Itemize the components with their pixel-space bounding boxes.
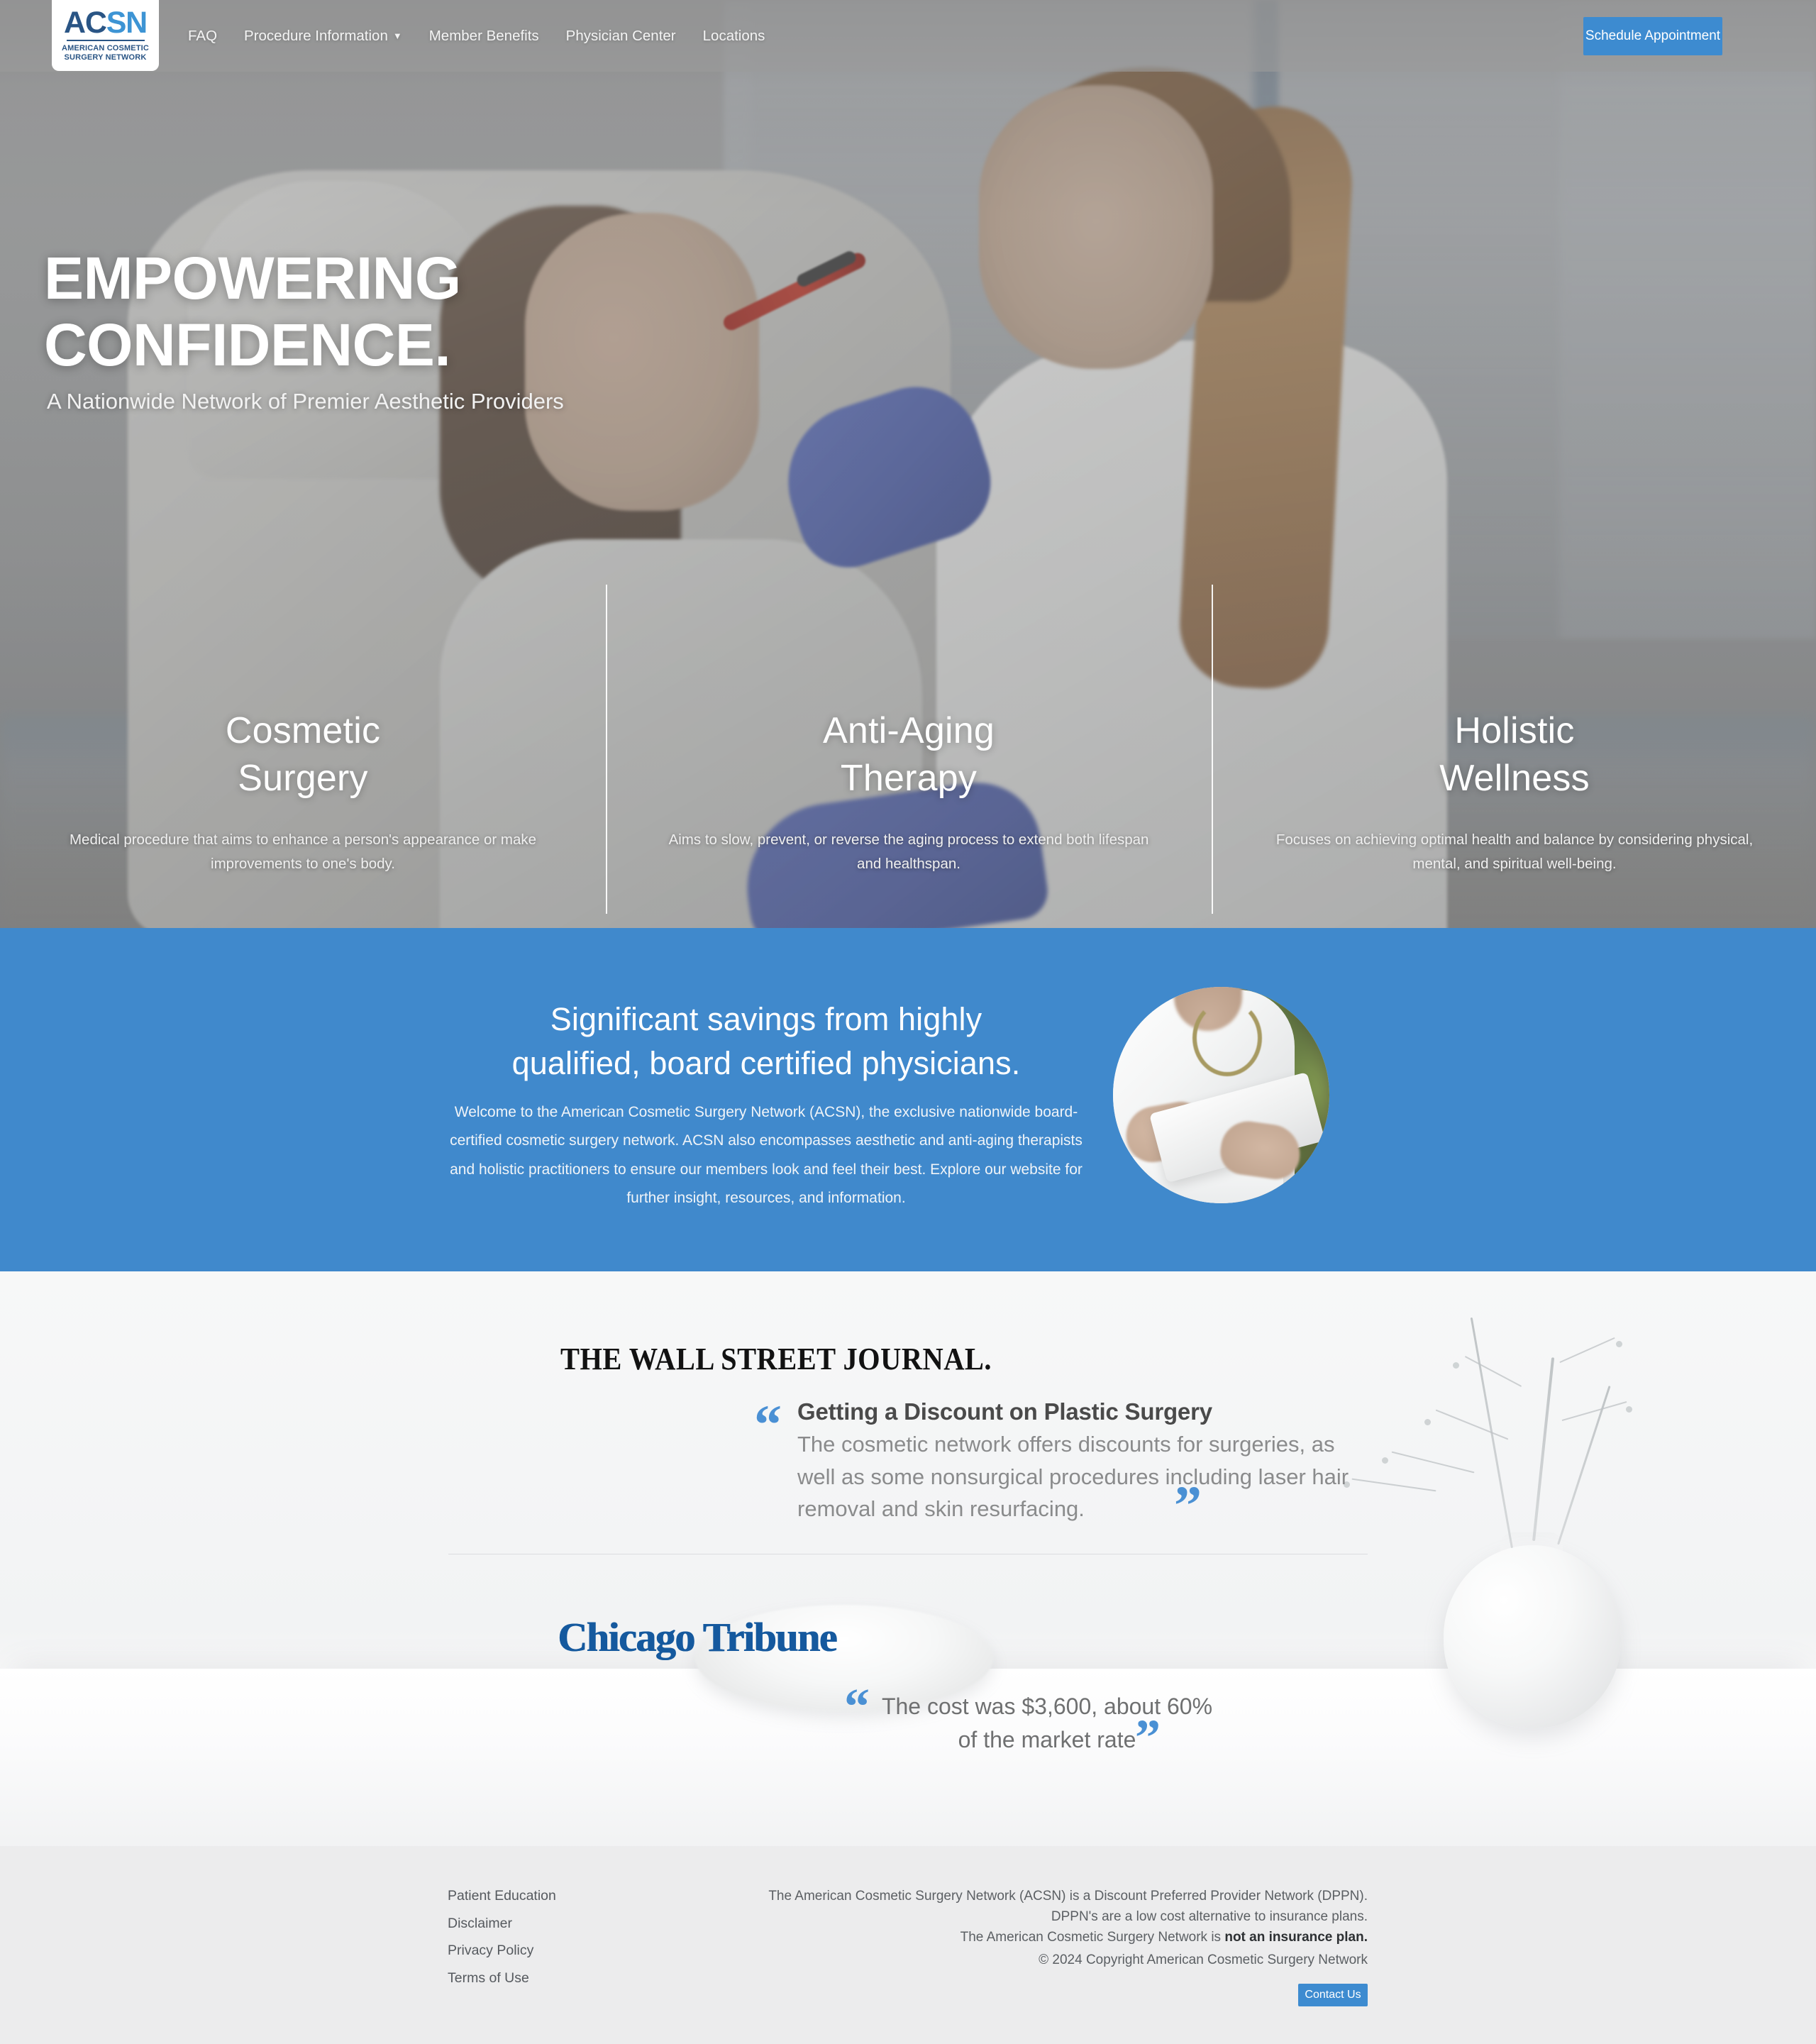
footer-link-terms-of-use[interactable]: Terms of Use [448,1970,556,1987]
footer-disclaimer-line-1: The American Cosmetic Surgery Network (A… [752,1886,1368,1907]
quote-open-icon: “ [754,1397,782,1452]
footer-disclaimer-line-3-prefix: The American Cosmetic Surgery Network is [960,1930,1225,1945]
nav-item-member-benefits[interactable]: Member Benefits [416,28,553,45]
schedule-appointment-button[interactable]: Schedule Appointment [1583,17,1722,55]
nav-item-label: Locations [703,28,765,44]
footer-disclaimer-line-2: DPPN's are a low cost alternative to ins… [752,1907,1368,1928]
nav-item-procedure-information[interactable]: Procedure Information▼ [231,28,416,45]
quote-close-icon: ” [1174,1478,1202,1533]
footer-copyright: © 2024 Copyright American Cosmetic Surge… [752,1952,1368,1968]
chicago-tribune-logo: Chicago Tribune [558,1613,836,1661]
footer-link-patient-education[interactable]: Patient Education [448,1888,556,1904]
logo-wordmark-light: SN [106,6,147,40]
wsj-quote-title: Getting a Discount on Plastic Surgery [797,1398,1336,1425]
top-navigation-bar: ACSN AMERICAN COSMETIC SURGERY NETWORK F… [0,0,1816,72]
wsj-logo: THE WALL STREET JOURNAL. [560,1341,992,1377]
wsj-quote-body: The cosmetic network offers discounts fo… [797,1428,1358,1525]
footer-disclaimer-line-3-bold: not an insurance plan. [1224,1930,1368,1945]
logo-wordmark: ACSN [64,9,147,38]
nav-links: FAQ Procedure Information▼ Member Benefi… [175,0,778,72]
footer-link-disclaimer[interactable]: Disclaimer [448,1916,556,1932]
acsn-logo[interactable]: ACSN AMERICAN COSMETIC SURGERY NETWORK [52,0,159,71]
nav-item-label: Physician Center [566,28,676,44]
nav-item-label: Member Benefits [429,28,539,44]
nav-item-label: FAQ [188,28,217,44]
contact-us-button[interactable]: Contact Us [1298,1984,1368,2006]
quote-close-icon: ” [1135,1712,1161,1763]
nav-item-physician-center[interactable]: Physician Center [553,28,690,45]
logo-underline [67,40,145,42]
footer-disclaimer-line-3: The American Cosmetic Surgery Network is… [752,1928,1368,1948]
logo-subtitle: AMERICAN COSMETIC SURGERY NETWORK [62,44,149,62]
nav-item-locations[interactable]: Locations [690,28,779,45]
page-root: EMPOWERING CONFIDENCE. A Nationwide Netw… [0,0,1816,2044]
nav-item-faq[interactable]: FAQ [175,28,231,45]
nav-item-label: Procedure Information [244,28,388,44]
logo-wordmark-dark: AC [64,6,106,40]
press-content: THE WALL STREET JOURNAL. “ Getting a Dis… [0,0,1816,2044]
footer-links: Patient Education Disclaimer Privacy Pol… [448,1888,556,1997]
logo-subtitle-line-1: AMERICAN COSMETIC [62,44,149,53]
press-divider [448,1554,1368,1554]
footer-disclaimer: The American Cosmetic Surgery Network (A… [752,1886,1368,1948]
chevron-down-icon: ▼ [393,31,402,41]
physician-photo-circle [1113,987,1329,1203]
logo-subtitle-line-2: SURGERY NETWORK [62,53,149,62]
footer-link-privacy-policy[interactable]: Privacy Policy [448,1943,556,1959]
stethoscope-icon [1192,1000,1262,1076]
